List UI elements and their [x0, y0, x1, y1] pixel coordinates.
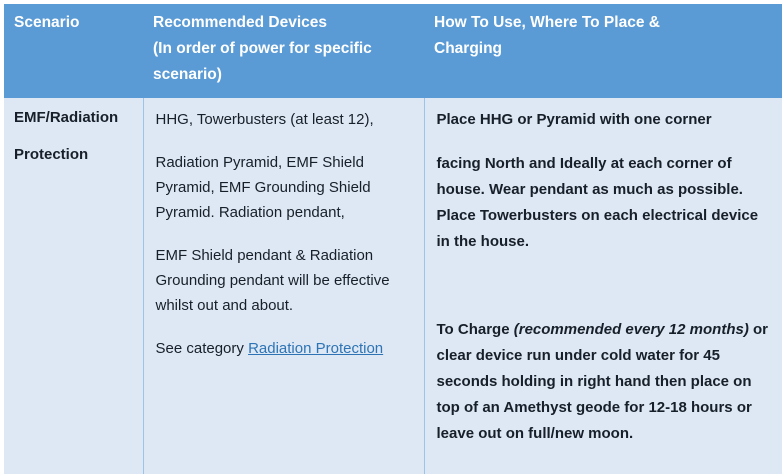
column-header-devices-line-1: Recommended Devices	[153, 10, 414, 36]
column-header-howto-line-2: Charging	[434, 36, 772, 62]
guide-table-container: Scenario Recommended Devices (In order o…	[4, 4, 782, 474]
charge-recommendation-note: (recommended every 12 months)	[514, 321, 749, 338]
charge-prefix-text: To Charge	[437, 321, 514, 338]
howto-paragraph-2: facing North and Ideally at each corner …	[437, 151, 771, 255]
table-header: Scenario Recommended Devices (In order o…	[4, 4, 782, 98]
recommended-devices-table: Scenario Recommended Devices (In order o…	[4, 4, 782, 474]
cell-scenario: EMF/Radiation Protection	[4, 98, 143, 474]
howto-charging-paragraph: To Charge (recommended every 12 months) …	[437, 317, 771, 447]
see-category-prefix-text: See category	[156, 340, 249, 357]
radiation-protection-category-link[interactable]: Radiation Protection	[248, 340, 383, 357]
column-header-devices-line-2: (In order of power for specific	[153, 36, 414, 62]
table-body: EMF/Radiation Protection HHG, Towerbuste…	[4, 98, 782, 474]
cell-how-to-use: Place HHG or Pyramid with one corner fac…	[424, 98, 782, 474]
column-header-scenario-line-1: Scenario	[14, 10, 133, 36]
column-header-how-to-use: How To Use, Where To Place & Charging	[424, 4, 782, 98]
scenario-line-1: EMF/Radiation	[14, 107, 131, 129]
charge-suffix-text: or clear device run under cold water for…	[437, 321, 773, 442]
scenario-line-2: Protection	[14, 144, 131, 166]
howto-paragraph-spacer	[437, 273, 771, 299]
column-header-howto-line-1: How To Use, Where To Place &	[434, 10, 772, 36]
howto-paragraph-1: Place HHG or Pyramid with one corner	[437, 107, 771, 133]
column-header-devices-line-3: scenario)	[153, 62, 414, 88]
devices-paragraph-3: EMF Shield pendant & Radiation Grounding…	[156, 243, 412, 318]
cell-recommended-devices: HHG, Towerbusters (at least 12), Radiati…	[143, 98, 424, 474]
table-header-row: Scenario Recommended Devices (In order o…	[4, 4, 782, 98]
devices-see-category-paragraph: See category Radiation Protection	[156, 336, 412, 361]
column-header-recommended-devices: Recommended Devices (In order of power f…	[143, 4, 424, 98]
column-header-scenario: Scenario	[4, 4, 143, 98]
table-row: EMF/Radiation Protection HHG, Towerbuste…	[4, 98, 782, 474]
devices-paragraph-2: Radiation Pyramid, EMF Shield Pyramid, E…	[156, 150, 412, 225]
devices-paragraph-1: HHG, Towerbusters (at least 12),	[156, 107, 412, 132]
